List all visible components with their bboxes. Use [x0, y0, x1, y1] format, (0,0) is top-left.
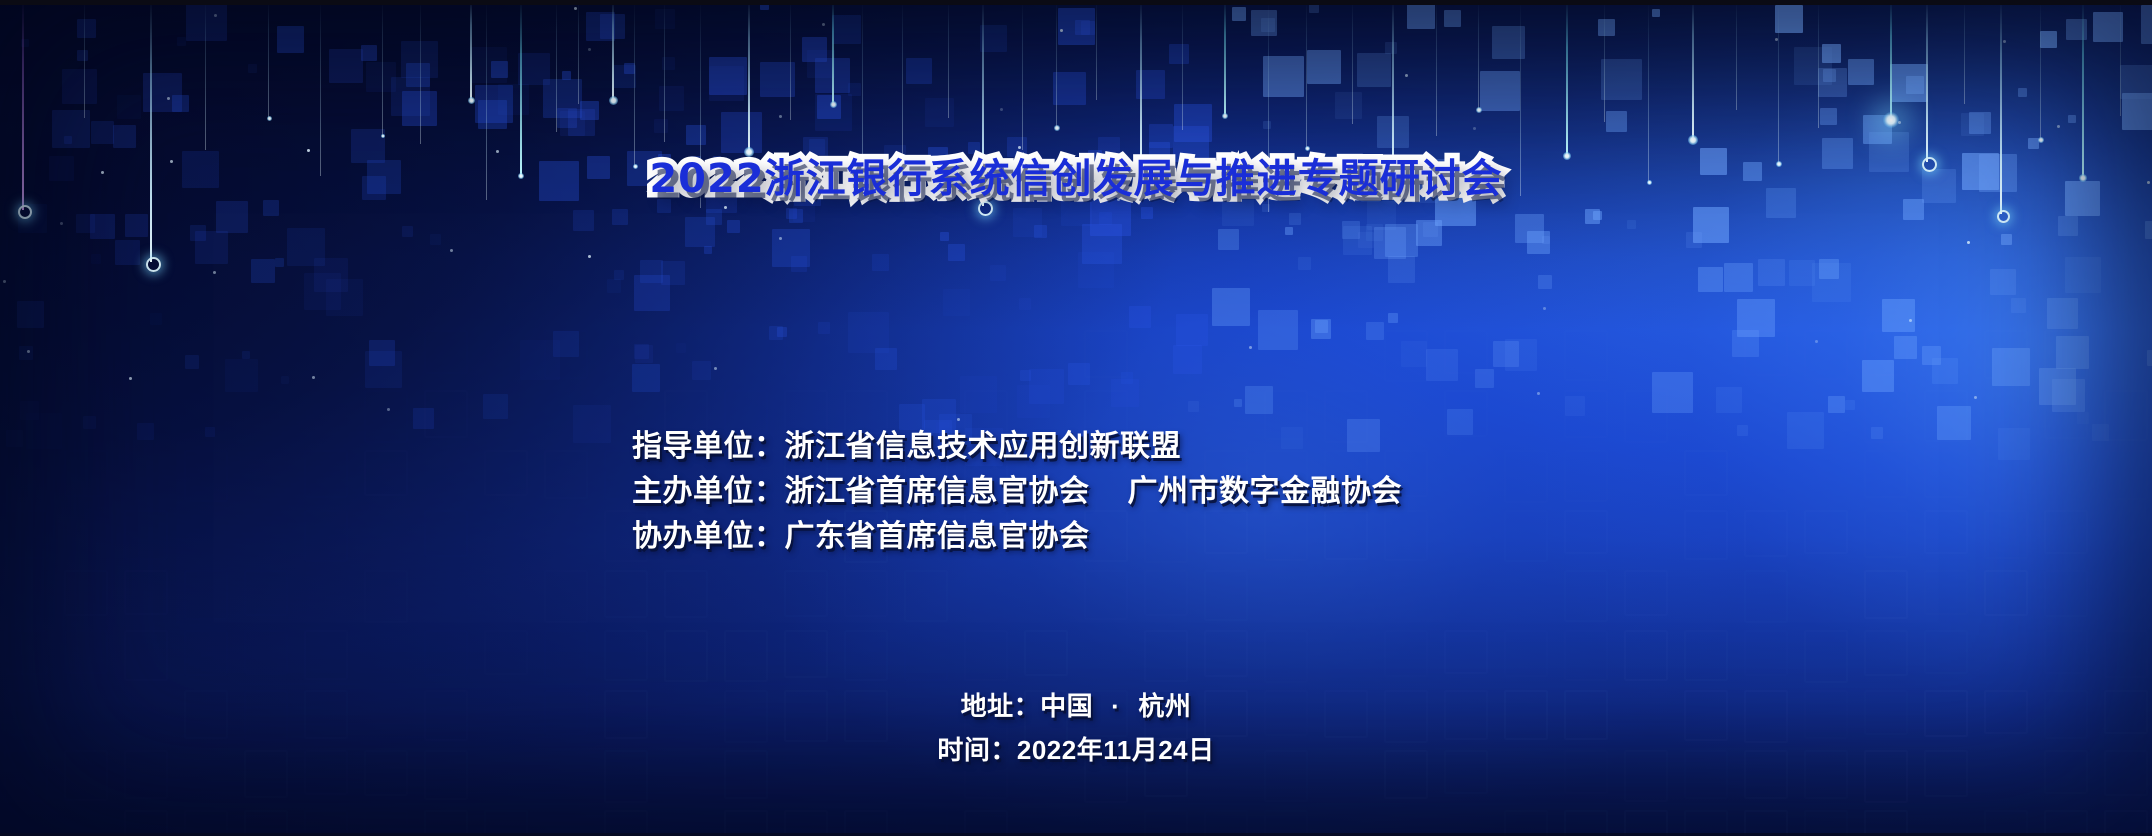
event-banner: 2022浙江银行系统信创发展与推进专题研讨会 指导单位：浙江省信息技术应用创新联… — [0, 0, 2152, 836]
organizer-row-cohost: 协办单位：广东省首席信息官协会 — [632, 514, 1402, 559]
organizer-value-host: 浙江省首席信息官协会 — [785, 475, 1090, 508]
event-location-row: 地址：中国·杭州 — [0, 684, 2152, 728]
event-location-separator-icon: · — [1111, 691, 1120, 721]
event-date-label: 时间： — [937, 735, 1017, 765]
organizer-value-guidance: 浙江省信息技术应用创新联盟 — [785, 430, 1182, 463]
event-date-value: 2022年11月24日 — [1017, 735, 1215, 765]
top-edge-bar — [0, 0, 2152, 5]
organizer-row-host: 主办单位：浙江省首席信息官协会广州市数字金融协会 — [632, 469, 1402, 514]
page-title: 2022浙江银行系统信创发展与推进专题研讨会 — [0, 158, 2152, 200]
organizer-row-guidance: 指导单位：浙江省信息技术应用创新联盟 — [632, 424, 1402, 469]
event-location-label: 地址： — [961, 691, 1041, 721]
event-meta-block: 地址：中国·杭州 时间：2022年11月24日 — [0, 684, 2152, 772]
event-location-city: 杭州 — [1138, 691, 1191, 721]
organizer-value-cohost: 广东省首席信息官协会 — [785, 520, 1090, 553]
organizer-label-host: 主办单位： — [632, 475, 785, 508]
event-date-row: 时间：2022年11月24日 — [0, 728, 2152, 772]
organizers-block: 指导单位：浙江省信息技术应用创新联盟 主办单位：浙江省首席信息官协会广州市数字金… — [632, 424, 1402, 559]
event-location-country: 中国 — [1040, 691, 1093, 721]
organizer-label-cohost: 协办单位： — [632, 520, 785, 553]
organizer-value-host-secondary: 广州市数字金融协会 — [1128, 475, 1403, 508]
organizer-label-guidance: 指导单位： — [632, 430, 785, 463]
